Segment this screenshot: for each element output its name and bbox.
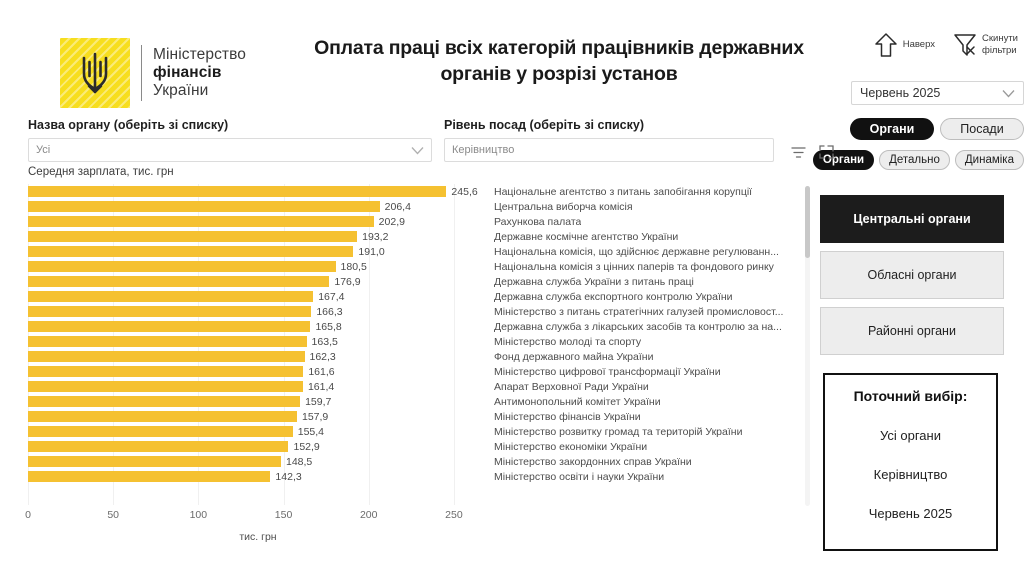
chart-bar[interactable] xyxy=(28,276,329,287)
slicer-organ: Назва органу (оберіть зі списку) Усі xyxy=(28,118,432,162)
trident-glyph-icon xyxy=(80,52,110,94)
chart-axis-title: Середня зарплата, тис. грн xyxy=(28,166,174,178)
chart-bar-row[interactable]: 142,3Міністерство освіти і науки України xyxy=(28,469,809,484)
chart-bar-row[interactable]: 165,8Державна служба з лікарських засобі… xyxy=(28,319,809,334)
chart-category-label: Апарат Верховної Ради України xyxy=(494,381,649,393)
chart-bar-value: 157,9 xyxy=(302,411,328,423)
chart-category-label: Міністерство з питань стратегічних галуз… xyxy=(494,306,783,318)
chart-bar-value: 161,4 xyxy=(308,381,334,393)
chart-bar[interactable] xyxy=(28,291,313,302)
slicer-level-value: Керівництво xyxy=(452,144,766,156)
toggle-organy[interactable]: Органи xyxy=(850,118,934,140)
slicer-level-label: Рівень посад (оберіть зі списку) xyxy=(444,118,774,132)
chart-bar[interactable] xyxy=(28,441,288,452)
chart-category-label: Державна служба з лікарських засобів та … xyxy=(494,321,782,333)
chart-bar[interactable] xyxy=(28,351,305,362)
chart-bar[interactable] xyxy=(28,456,281,467)
chart-bar-row[interactable]: 180,5Національна комісія з цінних папері… xyxy=(28,259,809,274)
chart-bar-value: 176,9 xyxy=(334,276,360,288)
chart-category-label: Антимонопольний комітет України xyxy=(494,396,661,408)
tab-dynamika[interactable]: Динаміка xyxy=(955,150,1024,170)
chart-scrollbar-thumb[interactable] xyxy=(805,186,810,258)
chart-category-label: Міністерство економіки України xyxy=(494,441,647,453)
reset-filters-button[interactable]: Скинути фільтри xyxy=(953,32,1024,58)
chart-category-label: Національне агентство з питань запобіган… xyxy=(494,186,752,198)
ukraine-trident-logo-icon xyxy=(60,38,130,108)
chevron-down-icon xyxy=(411,146,424,155)
slicer-organ-dropdown[interactable]: Усі xyxy=(28,138,432,162)
chart-category-label: Рахункова палата xyxy=(494,216,581,228)
level-selector-panel: Центральні органи Обласні органи Районні… xyxy=(820,195,1004,363)
chart-bar-row[interactable]: 176,9Державна служба України з питань пр… xyxy=(28,274,809,289)
chart-bar-value: 245,6 xyxy=(451,186,477,198)
chart-bar-row[interactable]: 163,5Міністерство молоді та спорту xyxy=(28,334,809,349)
chart-plot-area: 245,6Національне агентство з питань запо… xyxy=(28,184,809,509)
chart-bar[interactable] xyxy=(28,216,374,227)
chart-bar-value: 206,4 xyxy=(385,201,411,213)
slicer-organ-value: Усі xyxy=(36,144,405,156)
logo-line-1: Міністерство xyxy=(153,46,246,64)
focus-mode-icon[interactable] xyxy=(819,145,834,159)
view-toggle-primary: Органи Посади xyxy=(850,118,1024,140)
level-button-central[interactable]: Центральні органи xyxy=(820,195,1004,243)
chart-bar-value: 148,5 xyxy=(286,456,312,468)
chart-category-label: Центральна виборча комісія xyxy=(494,201,633,213)
chart-category-label: Державне космічне агентство України xyxy=(494,231,678,243)
chart-category-label: Національна комісія, що здійснює державн… xyxy=(494,246,779,258)
toggle-posady[interactable]: Посади xyxy=(940,118,1024,140)
x-axis-tick: 150 xyxy=(275,509,293,521)
chart-bar[interactable] xyxy=(28,201,380,212)
chart-category-label: Міністерство розвитку громад та територі… xyxy=(494,426,742,438)
dashboard-page: Міністерство фінансів України Оплата пра… xyxy=(0,0,1036,568)
level-button-raion[interactable]: Районні органи xyxy=(820,307,1004,355)
chart-bar[interactable] xyxy=(28,231,357,242)
scroll-to-top-label: Наверх xyxy=(903,39,935,51)
chart-scrollbar[interactable] xyxy=(805,186,810,506)
chart-bar-value: 161,6 xyxy=(308,366,334,378)
scroll-to-top-button[interactable]: Наверх xyxy=(874,32,935,58)
chart-bar[interactable] xyxy=(28,306,311,317)
logo-divider xyxy=(141,45,142,101)
chart-bar-row[interactable]: 206,4Центральна виборча комісія xyxy=(28,199,809,214)
chart-category-label: Національна комісія з цінних паперів та … xyxy=(494,261,774,273)
chart-bar[interactable] xyxy=(28,426,293,437)
chart-bar[interactable] xyxy=(28,246,353,257)
chart-bar-value: 163,5 xyxy=(312,336,338,348)
level-button-oblast[interactable]: Обласні органи xyxy=(820,251,1004,299)
chart-bar[interactable] xyxy=(28,366,303,377)
salary-bar-chart: 245,6Національне агентство з питань запо… xyxy=(28,184,809,509)
logo-line-3: України xyxy=(153,82,246,100)
logo-text: Міністерство фінансів України xyxy=(153,46,246,101)
chart-x-axis: 050100150200250 xyxy=(28,509,488,525)
chart-bar-row[interactable]: 245,6Національне агентство з питань запо… xyxy=(28,184,809,199)
x-axis-tick: 250 xyxy=(445,509,463,521)
ministry-logo: Міністерство фінансів України xyxy=(60,38,246,108)
chart-bar-value: 165,8 xyxy=(315,321,341,333)
chart-bar[interactable] xyxy=(28,396,300,407)
slicer-level-dropdown[interactable]: Керівництво xyxy=(444,138,774,162)
chart-bar-value: 155,4 xyxy=(298,426,324,438)
slicer-level-icons xyxy=(791,145,834,159)
chart-bar-row[interactable]: 193,2Державне космічне агентство України xyxy=(28,229,809,244)
x-axis-tick: 100 xyxy=(190,509,208,521)
chart-category-label: Міністерство освіти і науки України xyxy=(494,471,664,483)
x-axis-tick: 200 xyxy=(360,509,378,521)
filter-icon[interactable] xyxy=(791,146,806,159)
chart-bar-row[interactable]: 157,9Міністерство фінансів України xyxy=(28,409,809,424)
chart-bar-row[interactable]: 148,5Міністерство закордонних справ Укра… xyxy=(28,454,809,469)
slicer-level: Рівень посад (оберіть зі списку) Керівни… xyxy=(444,118,774,162)
chart-bar-value: 202,9 xyxy=(379,216,405,228)
chart-bar[interactable] xyxy=(28,336,307,347)
chart-bar-row[interactable]: 161,4Апарат Верховної Ради України xyxy=(28,379,809,394)
chart-bar[interactable] xyxy=(28,186,446,197)
chart-bar[interactable] xyxy=(28,381,303,392)
chart-category-label: Фонд державного майна України xyxy=(494,351,653,363)
month-select[interactable]: Червень 2025 xyxy=(851,81,1024,105)
view-toggle-secondary: Органи Детально Динаміка xyxy=(813,150,1024,170)
chart-bar-value: 152,9 xyxy=(293,441,319,453)
top-actions: Наверх Скинути фільтри xyxy=(874,32,1024,58)
chart-bar[interactable] xyxy=(28,471,270,482)
chart-x-axis-title: тис. грн xyxy=(28,531,488,543)
current-selection-title: Поточний вибір: xyxy=(854,388,968,404)
chart-bar-rows: 245,6Національне агентство з питань запо… xyxy=(28,184,809,484)
month-select-value: Червень 2025 xyxy=(860,86,1002,100)
chart-category-label: Міністерство цифрової трансформації Укра… xyxy=(494,366,721,378)
current-selection-box: Поточний вибір: Усі органи Керівництво Ч… xyxy=(823,373,998,551)
chart-bar-value: 166,3 xyxy=(316,306,342,318)
x-axis-tick: 50 xyxy=(107,509,119,521)
chart-bar-row[interactable]: 162,3Фонд державного майна України xyxy=(28,349,809,364)
chevron-down-icon xyxy=(1002,89,1015,98)
chart-bar-value: 191,0 xyxy=(358,246,384,258)
tab-detalno[interactable]: Детально xyxy=(879,150,950,170)
logo-line-2: фінансів xyxy=(153,64,246,82)
chart-category-label: Міністерство закордонних справ України xyxy=(494,456,692,468)
chart-category-label: Державна служба експортного контролю Укр… xyxy=(494,291,733,303)
chart-bar-value: 162,3 xyxy=(310,351,336,363)
chart-bar-row[interactable]: 152,9Міністерство економіки України xyxy=(28,439,809,454)
chart-bar-value: 180,5 xyxy=(341,261,367,273)
chart-bar[interactable] xyxy=(28,261,336,272)
funnel-clear-icon xyxy=(953,32,977,58)
chart-bar[interactable] xyxy=(28,321,310,332)
current-selection-period: Червень 2025 xyxy=(869,506,953,521)
x-axis-tick: 0 xyxy=(25,509,31,521)
chart-bar-row[interactable]: 167,4Державна служба експортного контрол… xyxy=(28,289,809,304)
chart-bar-value: 193,2 xyxy=(362,231,388,243)
chart-category-label: Міністерство фінансів України xyxy=(494,411,641,423)
slicer-organ-label: Назва органу (оберіть зі списку) xyxy=(28,118,432,132)
chart-bar-row[interactable]: 202,9Рахункова палата xyxy=(28,214,809,229)
chart-bar[interactable] xyxy=(28,411,297,422)
chart-bar-row[interactable]: 161,6Міністерство цифрової трансформації… xyxy=(28,364,809,379)
chart-bar-row[interactable]: 159,7Антимонопольний комітет України xyxy=(28,394,809,409)
chart-category-label: Міністерство молоді та спорту xyxy=(494,336,641,348)
chart-category-label: Державна служба України з питань праці xyxy=(494,276,694,288)
current-selection-organ: Усі органи xyxy=(880,428,941,443)
arrow-up-icon xyxy=(874,32,898,58)
chart-bar-value: 159,7 xyxy=(305,396,331,408)
chart-bar-value: 167,4 xyxy=(318,291,344,303)
page-title: Оплата праці всіх категорій працівників … xyxy=(286,36,832,88)
chart-bar-row[interactable]: 191,0Національна комісія, що здійснює де… xyxy=(28,244,809,259)
chart-bar-value: 142,3 xyxy=(275,471,301,483)
current-selection-level: Керівництво xyxy=(874,467,948,482)
reset-filters-label: Скинути фільтри xyxy=(982,33,1024,56)
chart-bar-row[interactable]: 155,4Міністерство розвитку громад та тер… xyxy=(28,424,809,439)
chart-bar-row[interactable]: 166,3Міністерство з питань стратегічних … xyxy=(28,304,809,319)
